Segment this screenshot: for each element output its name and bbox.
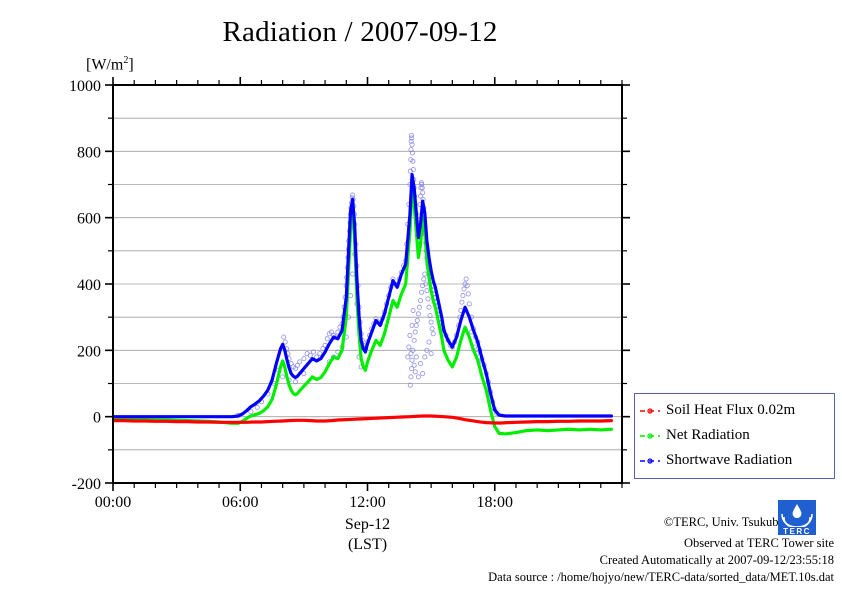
scatter-point	[282, 335, 286, 339]
x-tick-label: 18:00	[477, 494, 513, 511]
scatter-point	[425, 289, 429, 293]
y-tick-label: 600	[77, 211, 101, 228]
scatter-points	[236, 133, 499, 417]
scatter-point	[418, 298, 422, 302]
scatter-point	[281, 375, 285, 379]
y-tick-label: 1000	[69, 78, 101, 95]
scatter-point	[410, 358, 414, 362]
series-line-net-radiation	[113, 188, 611, 434]
grid-lines	[113, 118, 622, 450]
scatter-point	[421, 191, 425, 195]
x-axis-timezone-label: (LST)	[113, 535, 622, 554]
legend-item-label: Shortwave Radiation	[666, 452, 792, 469]
scatter-point	[429, 320, 433, 324]
scatter-point	[422, 277, 426, 281]
scatter-point	[466, 292, 470, 296]
x-tick-label: 00:00	[95, 494, 131, 511]
y-tick-label: 400	[77, 277, 101, 294]
scatter-point	[414, 323, 418, 327]
scatter-point	[408, 333, 412, 337]
x-tick-label: 12:00	[349, 494, 385, 511]
scatter-point	[412, 363, 416, 367]
scatter-point	[427, 305, 431, 309]
legend-color-swatch	[639, 430, 661, 442]
x-tick-label: 06:00	[222, 494, 258, 511]
scatter-point	[412, 338, 416, 342]
scatter-point	[421, 371, 425, 375]
footer-created: Created Automatically at 2007-09-12/23:5…	[600, 553, 834, 568]
scatter-point	[429, 352, 433, 356]
scatter-point	[415, 318, 419, 322]
scatter-point	[410, 323, 414, 327]
radiation-chart-page: Radiation / 2007-09-12 [W/m2] -200020040…	[0, 0, 842, 595]
scatter-point	[351, 272, 355, 276]
scatter-point	[461, 294, 465, 298]
scatter-point	[407, 345, 411, 349]
legend-item-label: Net Radiation	[666, 427, 750, 444]
scatter-point	[419, 290, 423, 294]
legend-item-label: Soil Heat Flux 0.02m	[666, 402, 795, 419]
footer-copyright: ©TERC, Univ. Tsukuba	[664, 515, 784, 530]
scatter-point	[464, 277, 468, 281]
y-tick-label: -200	[72, 476, 101, 493]
scatter-point	[409, 375, 413, 379]
y-tick-label: 0	[93, 410, 101, 427]
plot-area: -2000200400600800100000:0006:0012:0018:0…	[0, 0, 842, 595]
scatter-point	[430, 327, 434, 331]
svg-text:TERC: TERC	[783, 527, 811, 535]
chart-legend: Soil Heat Flux 0.02mNet RadiationShortwa…	[634, 393, 835, 479]
scatter-point	[416, 312, 420, 316]
scatter-point	[325, 337, 329, 341]
scatter-point	[411, 308, 415, 312]
legend-color-swatch	[639, 405, 661, 417]
scatter-point	[255, 405, 259, 409]
legend-item[interactable]: Net Radiation	[635, 423, 834, 448]
footer-observed: Observed at TERC Tower site	[684, 536, 834, 551]
scatter-point	[418, 362, 422, 366]
scatter-point	[409, 352, 413, 356]
scatter-point	[426, 297, 430, 301]
x-axis-label: Sep-12	[113, 515, 622, 534]
scatter-point	[348, 294, 352, 298]
series-line-shortwave-radiation	[113, 175, 611, 417]
scatter-point	[423, 355, 427, 359]
scatter-point	[467, 302, 471, 306]
scatter-point	[414, 355, 418, 359]
legend-color-swatch	[639, 455, 661, 467]
scatter-point	[413, 370, 417, 374]
scatter-point	[427, 340, 431, 344]
scatter-point	[416, 375, 420, 379]
scatter-point	[413, 330, 417, 334]
legend-item[interactable]: Shortwave Radiation	[635, 448, 834, 473]
scatter-point	[423, 272, 427, 276]
scatter-point	[417, 305, 421, 309]
legend-item[interactable]: Soil Heat Flux 0.02m	[635, 398, 834, 423]
scatter-point	[351, 193, 355, 197]
terc-logo: TERC	[778, 500, 816, 535]
scatter-point	[302, 357, 306, 361]
footer-datasource: Data source : /home/hojyo/new/TERC-data/…	[488, 570, 834, 585]
y-tick-label: 200	[77, 343, 101, 360]
y-tick-label: 800	[77, 144, 101, 161]
scatter-point	[431, 332, 435, 336]
scatter-point	[298, 360, 302, 364]
scatter-point	[460, 300, 464, 304]
